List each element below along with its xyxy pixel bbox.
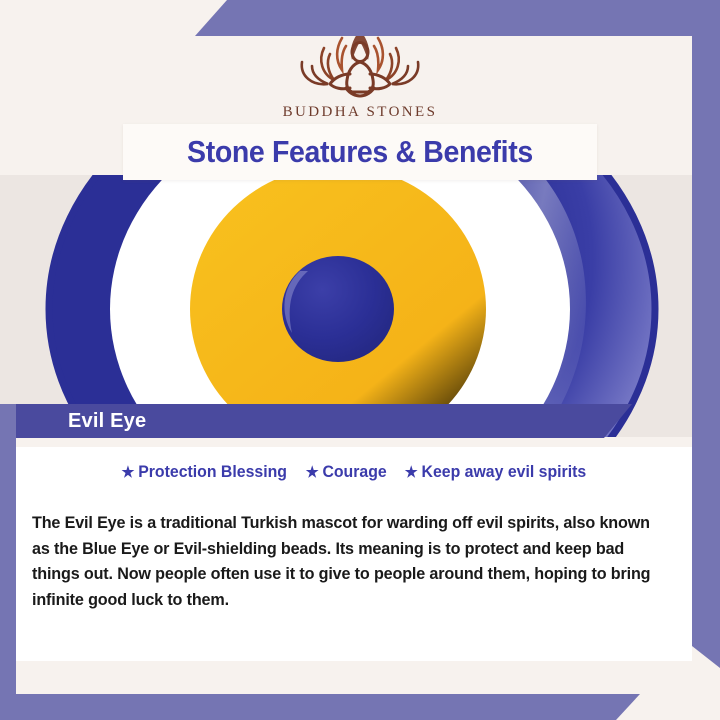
benefit-label: Keep away evil spirits bbox=[421, 463, 586, 482]
benefit-item: ★ Protection Blessing bbox=[122, 463, 288, 482]
description-card: ★ Protection Blessing ★ Courage ★ Keep a… bbox=[16, 447, 692, 661]
poster-root: BUDDHA STONES bbox=[0, 0, 720, 720]
star-icon: ★ bbox=[122, 465, 135, 480]
star-icon: ★ bbox=[305, 465, 318, 480]
page-title: Stone Features & Benefits bbox=[187, 134, 533, 170]
benefits-list: ★ Protection Blessing ★ Courage ★ Keep a… bbox=[16, 463, 692, 482]
title-banner: Stone Features & Benefits bbox=[123, 124, 597, 180]
description-text: The Evil Eye is a traditional Turkish ma… bbox=[32, 511, 670, 613]
benefit-label: Protection Blessing bbox=[138, 463, 287, 482]
frame-top bbox=[195, 0, 720, 36]
frame-left bbox=[0, 404, 16, 720]
star-icon: ★ bbox=[405, 465, 418, 480]
frame-bottom bbox=[0, 694, 640, 720]
brand-logo: BUDDHA STONES bbox=[0, 22, 720, 121]
brand-name: BUDDHA STONES bbox=[283, 104, 438, 121]
product-label-banner: Evil Eye bbox=[16, 404, 632, 438]
product-label-text: Evil Eye bbox=[68, 410, 146, 433]
benefit-label: Courage bbox=[322, 463, 386, 482]
benefit-item: ★ Keep away evil spirits bbox=[405, 463, 586, 482]
frame-right bbox=[692, 0, 720, 668]
benefit-item: ★ Courage bbox=[305, 463, 386, 482]
product-image bbox=[0, 175, 720, 437]
